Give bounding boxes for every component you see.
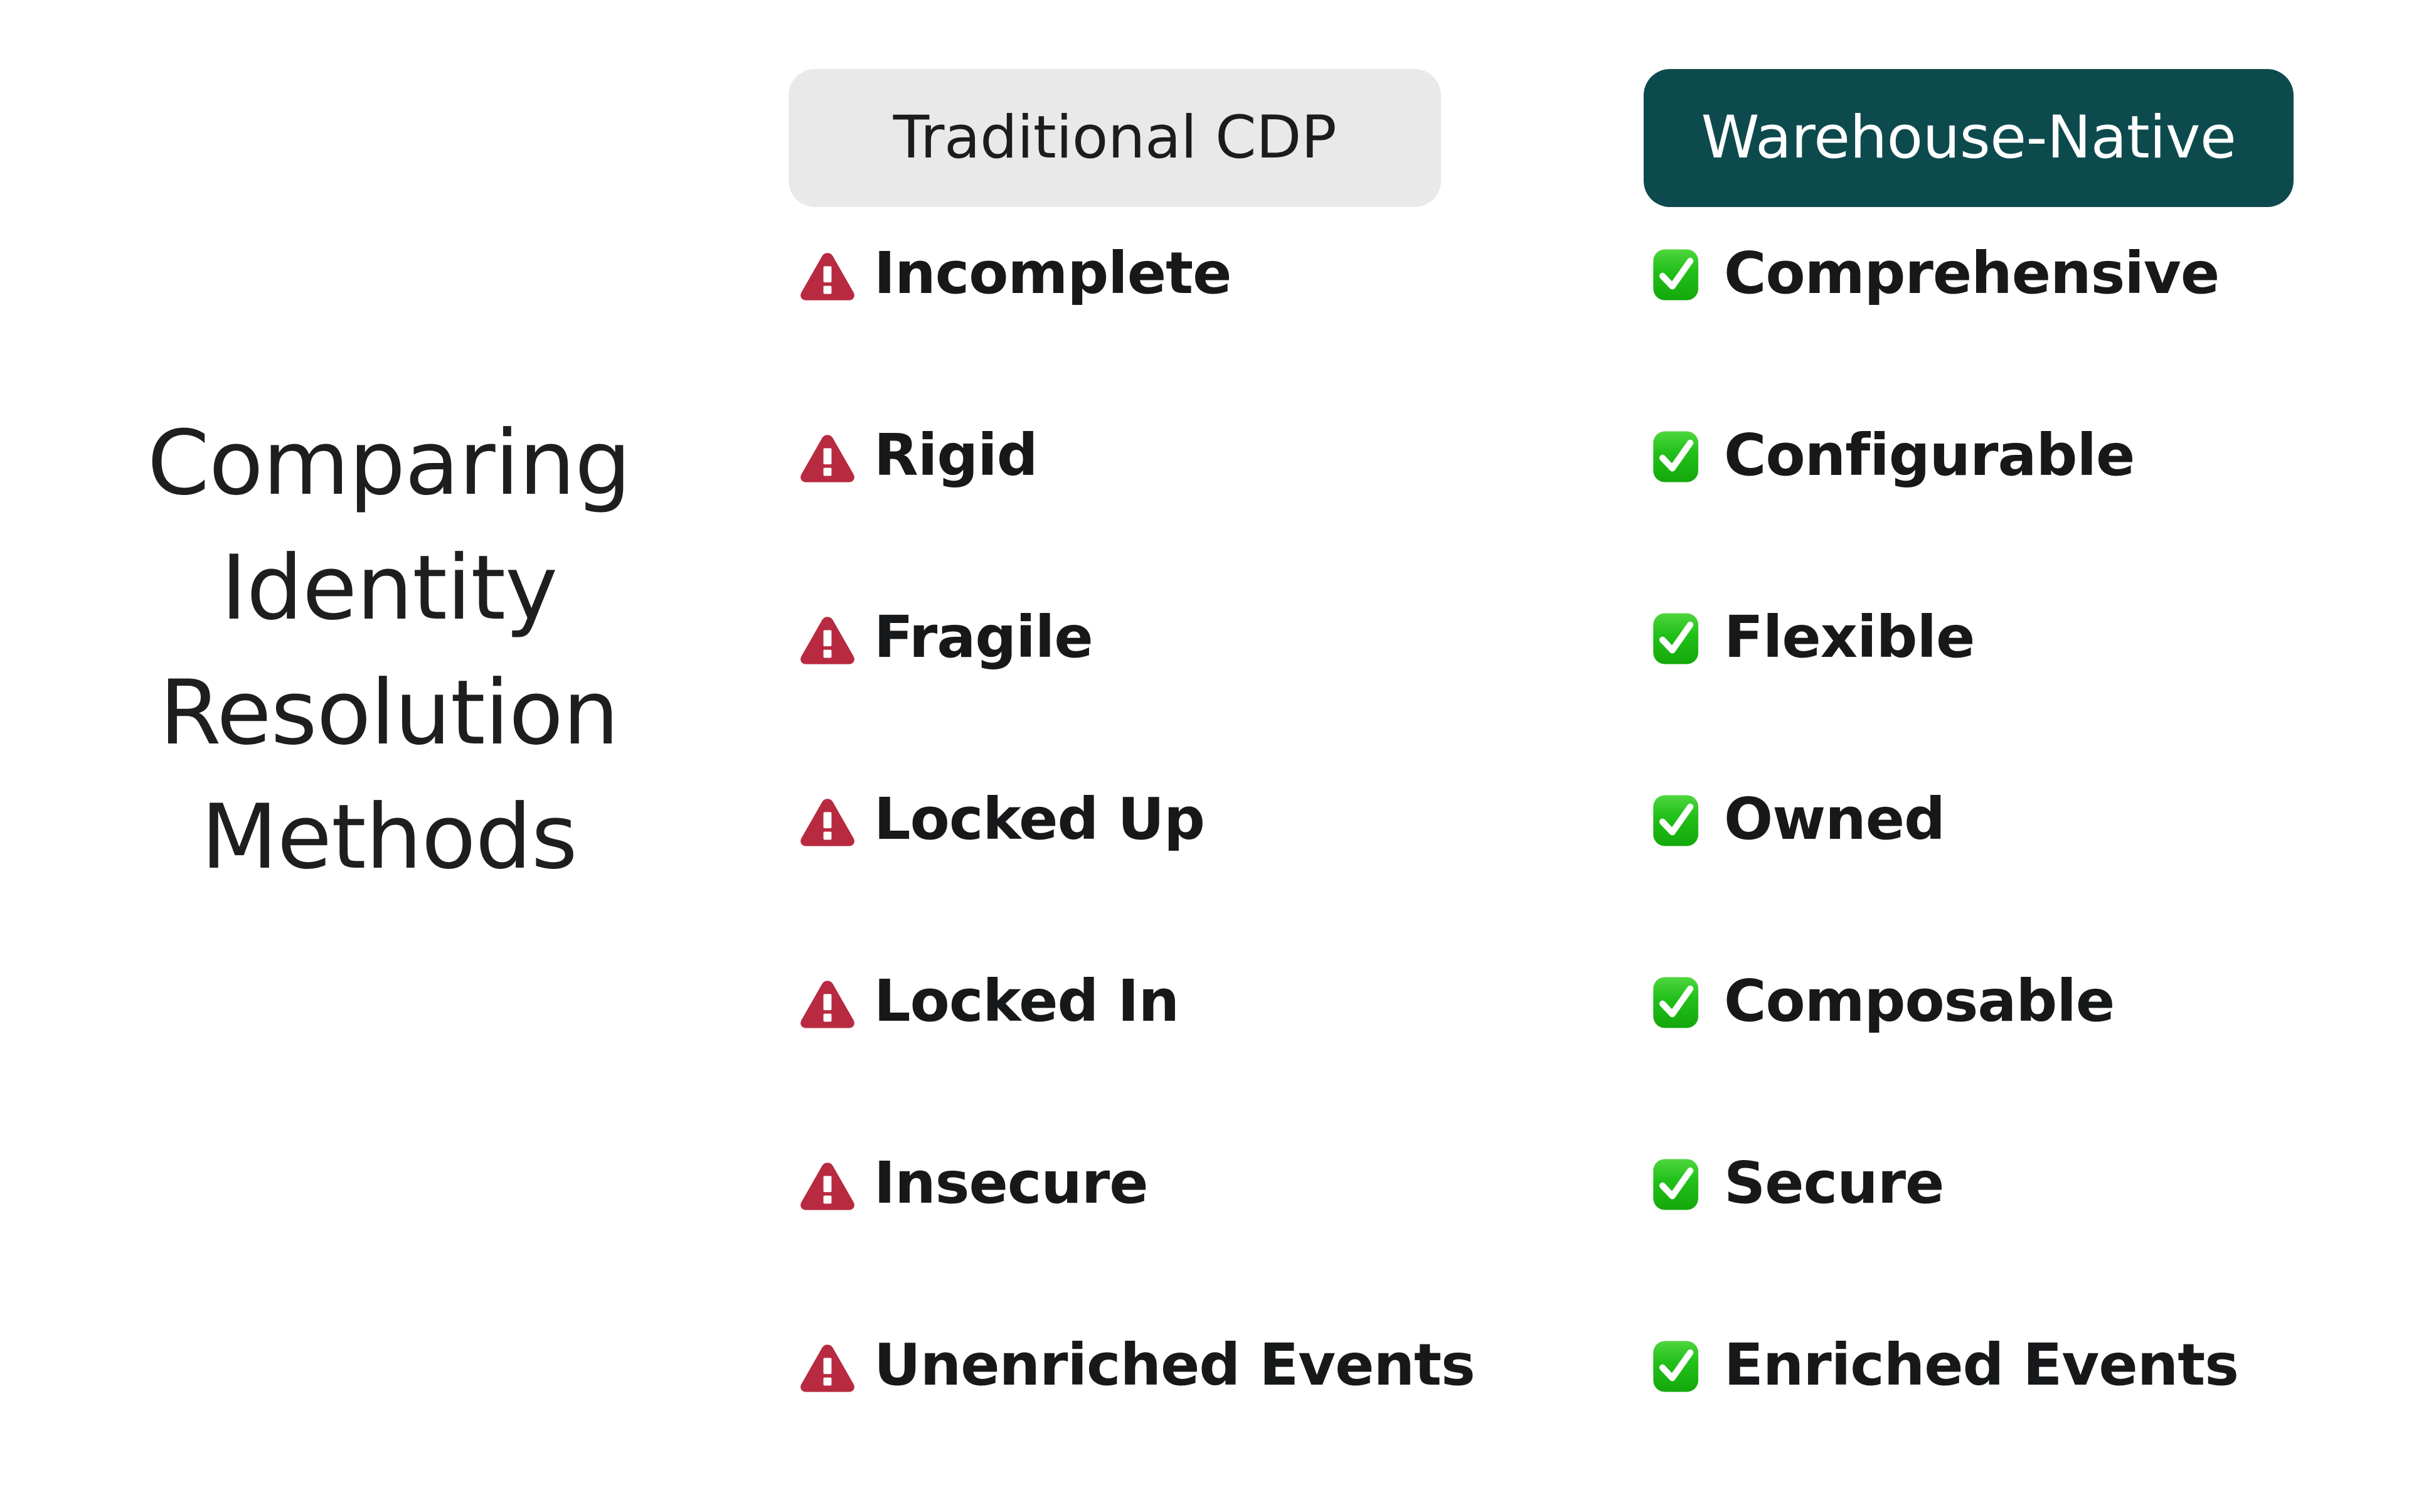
warning-triangle-icon (799, 793, 856, 851)
header-pill-warehouse-native[interactable]: Warehouse-Native (1644, 69, 2294, 207)
warning-triangle-icon (799, 1339, 856, 1397)
table-row: Secure (1649, 1148, 2299, 1330)
header-pill-warehouse-native-label: Warehouse-Native (1701, 109, 2236, 168)
green-check-box-icon (1649, 792, 1706, 849)
header-pill-traditional-cdp-label: Traditional CDP (893, 109, 1337, 168)
table-row: Enriched Events (1649, 1330, 2299, 1512)
table-row: Comprehensive (1649, 238, 2299, 420)
table-row: Unenriched Events (799, 1330, 1451, 1512)
row-label: Incomplete (874, 243, 1231, 304)
table-row: Fragile (799, 602, 1451, 784)
table-row: Flexible (1649, 602, 2299, 784)
warning-triangle-icon (799, 247, 856, 305)
row-label: Locked Up (874, 789, 1204, 849)
row-label: Enriched Events (1724, 1335, 2238, 1395)
warehouse-native-row-list: Comprehensive Configurable Flexible (1644, 238, 2299, 1512)
warning-triangle-icon (799, 1157, 856, 1215)
table-row: Rigid (799, 420, 1451, 602)
warning-triangle-icon (799, 975, 856, 1033)
row-label: Composable (1724, 971, 2114, 1031)
table-row: Locked Up (799, 784, 1451, 966)
row-label: Secure (1724, 1153, 1944, 1213)
row-label: Configurable (1724, 425, 2134, 486)
row-label: Fragile (874, 607, 1093, 668)
row-label: Unenriched Events (874, 1335, 1475, 1395)
row-label: Locked In (874, 971, 1179, 1031)
green-check-box-icon (1649, 1156, 1706, 1213)
green-check-box-icon (1649, 428, 1706, 486)
page-title: Comparing Identity Resolution Methods (38, 402, 740, 900)
row-label: Insecure (874, 1153, 1148, 1213)
title-block: Comparing Identity Resolution Methods (38, 402, 740, 900)
row-label: Owned (1724, 789, 1945, 849)
table-row: Insecure (799, 1148, 1451, 1330)
table-row: Incomplete (799, 238, 1451, 420)
table-row: Composable (1649, 966, 2299, 1148)
row-label: Comprehensive (1724, 243, 2219, 304)
comparison-slide: Comparing Identity Resolution Methods Tr… (0, 0, 2409, 1447)
header-pill-traditional-cdp[interactable]: Traditional CDP (789, 69, 1441, 207)
warning-triangle-icon (799, 611, 856, 669)
row-label: Rigid (874, 425, 1038, 486)
green-check-box-icon (1649, 610, 1706, 668)
traditional-cdp-row-list: Incomplete Rigid Fragile (789, 238, 1451, 1512)
green-check-box-icon (1649, 974, 1706, 1031)
table-row: Configurable (1649, 420, 2299, 602)
warning-triangle-icon (799, 429, 856, 487)
column-traditional-cdp: Traditional CDP Incomplete Rigid (789, 0, 1441, 1447)
table-row: Locked In (799, 966, 1451, 1148)
row-label: Flexible (1724, 607, 1974, 668)
green-check-box-icon (1649, 246, 1706, 304)
column-warehouse-native: Warehouse-Native Comprehensive (1644, 0, 2294, 1447)
green-check-box-icon (1649, 1338, 1706, 1395)
table-row: Owned (1649, 784, 2299, 966)
